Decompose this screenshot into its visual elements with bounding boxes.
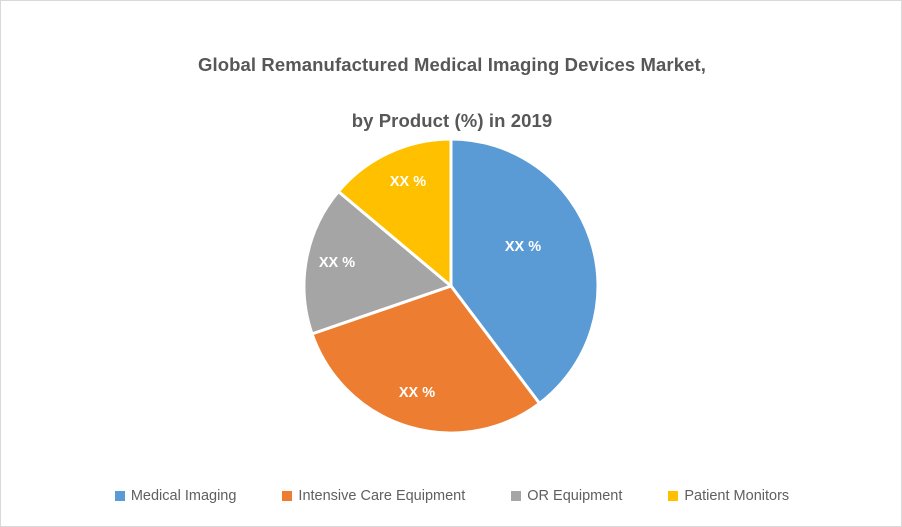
chart-legend: Medical ImagingIntensive Care EquipmentO…: [1, 482, 902, 510]
pie-data-label-medical-imaging: XX %: [505, 239, 541, 255]
legend-item-medical-imaging[interactable]: Medical Imaging: [115, 488, 237, 504]
legend-item-label: Intensive Care Equipment: [298, 488, 465, 504]
pie-chart-svg: XX %XX %XX %XX %: [1, 1, 902, 471]
pie-data-label-patient-monitors: XX %: [390, 174, 426, 190]
legend-item-patient-monitors[interactable]: Patient Monitors: [668, 488, 789, 504]
legend-item-label: Medical Imaging: [131, 488, 237, 504]
pie-plot-area: XX %XX %XX %XX %: [1, 1, 902, 471]
pie-data-label-or-equipment: XX %: [319, 255, 355, 271]
legend-swatch-icon: [668, 491, 678, 501]
legend-item-label: Patient Monitors: [684, 488, 789, 504]
legend-swatch-icon: [115, 491, 125, 501]
legend-item-label: OR Equipment: [527, 488, 622, 504]
pie-slice-group: [304, 139, 598, 433]
pie-data-label-intensive-care-equipment: XX %: [399, 385, 435, 401]
legend-item-intensive-care-equipment[interactable]: Intensive Care Equipment: [282, 488, 465, 504]
legend-item-or-equipment[interactable]: OR Equipment: [511, 488, 622, 504]
legend-swatch-icon: [511, 491, 521, 501]
legend-swatch-icon: [282, 491, 292, 501]
chart-container: Global Remanufactured Medical Imaging De…: [0, 0, 902, 527]
